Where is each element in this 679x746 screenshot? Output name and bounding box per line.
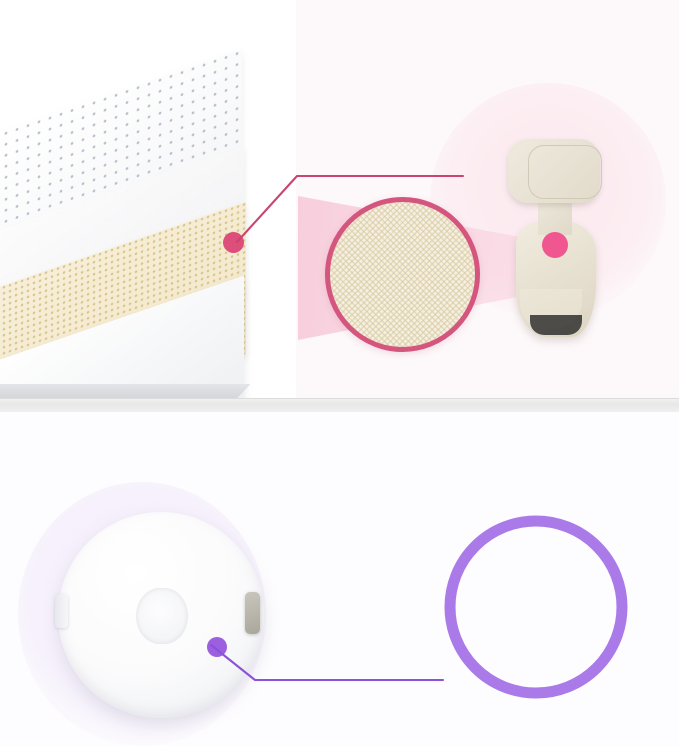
- callout-ventilation-levels: [200, 636, 450, 706]
- section-divider: [0, 398, 679, 412]
- infographic-page: [0, 0, 679, 746]
- section-breathable-fabric: [0, 0, 679, 400]
- callout-line-purple: [200, 636, 450, 706]
- divider-line: [0, 398, 679, 399]
- product-inner-shadow: [530, 315, 582, 335]
- fan-hub: [136, 588, 188, 644]
- side-tab-icon: [55, 594, 68, 628]
- fabric-base-edge: [0, 384, 251, 398]
- callout-line-pink: [225, 164, 470, 250]
- callout-breathable-fabric: [225, 164, 470, 250]
- pink-dot-marker-product: [542, 232, 568, 258]
- metal-clip-icon: [245, 592, 260, 634]
- product-logo: [548, 163, 578, 175]
- product-headrest: [508, 139, 600, 203]
